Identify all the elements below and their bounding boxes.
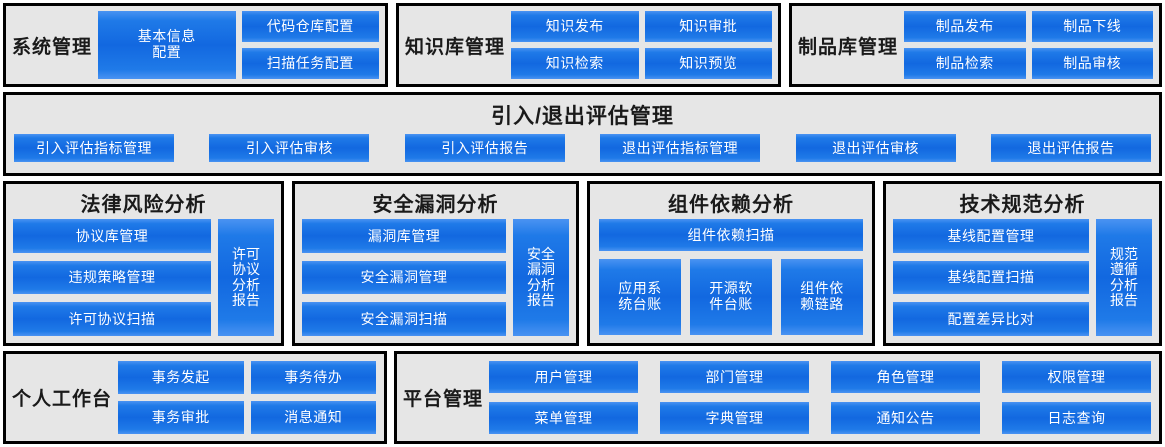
button-open-source-software-ledger[interactable]: 开源软 件台账 [690,259,772,335]
button-spec-report-line3: 分析 [1110,278,1138,293]
button-component-dependency-chain-line1: 组件依 [800,281,844,297]
button-license-analysis-report-line3: 分析 [232,278,260,293]
button-knowledge-preview[interactable]: 知识预览 [645,48,773,79]
button-license-analysis-report-line2: 协议 [232,262,260,277]
button-permission-management[interactable]: 权限管理 [1002,361,1151,393]
button-component-dependency-chain[interactable]: 组件依 赖链路 [781,259,863,335]
button-application-system-ledger-line1: 应用系 [618,281,662,297]
panel-title-entry-exit-evaluation-management: 引入/退出评估管理 [6,95,1159,134]
button-security-report-line3: 分析 [527,278,555,293]
button-role-management[interactable]: 角色管理 [831,361,980,393]
panel-title-artifact-repository-management: 制品库管理 [792,32,904,59]
button-user-management[interactable]: 用户管理 [489,361,638,393]
panel-title-component-dependency-analysis: 组件依赖分析 [590,184,872,219]
button-artifact-publish[interactable]: 制品发布 [904,11,1026,42]
panel-personal-workbench: 个人工作台 事务发起 事务待办 事务审批 消息通知 [3,351,387,444]
panel-platform-management: 平台管理 用户管理 部门管理 角色管理 权限管理 菜单管理 字典管理 通知公告 … [394,351,1162,444]
panel-component-dependency-analysis: 组件依赖分析 组件依赖扫描 应用系 统台账 开源软 件台账 组件依 赖链路 [587,181,875,346]
button-basic-info-config-line2: 配置 [152,45,181,61]
button-application-system-ledger-line2: 统台账 [618,297,662,313]
button-license-analysis-report-line4: 报告 [232,293,260,308]
button-license-library-management[interactable]: 协议库管理 [13,219,211,253]
button-knowledge-review[interactable]: 知识检索 [511,48,639,79]
button-task-todo[interactable]: 事务待办 [251,361,377,394]
button-notice-announcement[interactable]: 通知公告 [831,402,980,434]
button-knowledge-publish[interactable]: 知识发布 [511,11,639,42]
panel-system-management: 系统管理 基本信息 配置 代码仓库配置 扫描任务配置 [3,3,388,87]
panel-title-technical-specification-analysis: 技术规范分析 [886,184,1159,219]
button-security-vulnerability-management[interactable]: 安全漏洞管理 [302,261,506,295]
panel-title-legal-risk-analysis: 法律风险分析 [6,184,281,219]
button-scan-task-config[interactable]: 扫描任务配置 [242,48,380,79]
button-message-notification[interactable]: 消息通知 [251,401,377,434]
button-baseline-config-management[interactable]: 基线配置管理 [893,219,1089,253]
panel-title-knowledge-base-management: 知识库管理 [399,32,511,59]
button-vulnerability-library-management[interactable]: 漏洞库管理 [302,219,506,253]
button-dictionary-management[interactable]: 字典管理 [660,402,809,434]
button-license-agreement-scan[interactable]: 许可协议扫描 [13,302,211,336]
button-task-approval[interactable]: 事务审批 [118,401,243,434]
panel-security-vulnerability-analysis: 安全漏洞分析 漏洞库管理 安全漏洞管理 安全漏洞扫描 安全 漏洞 分析 报告 [292,181,579,346]
button-artifact-search[interactable]: 制品检索 [904,48,1026,79]
button-component-dependency-chain-line2: 赖链路 [800,297,844,313]
button-security-report-line4: 报告 [527,293,555,308]
button-open-source-software-ledger-line1: 开源软 [709,281,753,297]
panel-entry-exit-evaluation-management: 引入/退出评估管理 引入评估指标管理 引入评估审核 引入评估报告 退出评估指标管… [3,92,1162,176]
button-log-query[interactable]: 日志查询 [1002,402,1151,434]
button-specification-compliance-analysis-report[interactable]: 规范 遵循 分析 报告 [1096,219,1152,336]
button-department-management[interactable]: 部门管理 [660,361,809,393]
button-security-vulnerability-scan[interactable]: 安全漏洞扫描 [302,302,506,336]
button-exit-eval-review[interactable]: 退出评估审核 [796,134,956,162]
button-license-analysis-report-line1: 许可 [232,247,260,262]
button-exit-eval-report[interactable]: 退出评估报告 [991,134,1151,162]
button-basic-info-config-line1: 基本信息 [138,29,196,45]
button-application-system-ledger[interactable]: 应用系 统台账 [599,259,681,335]
button-artifact-offline[interactable]: 制品下线 [1032,11,1154,42]
panel-title-system-management: 系统管理 [6,32,98,59]
button-component-dependency-scan[interactable]: 组件依赖扫描 [599,219,863,251]
button-security-vulnerability-analysis-report[interactable]: 安全 漏洞 分析 报告 [513,219,569,336]
button-entry-eval-report[interactable]: 引入评估报告 [405,134,565,162]
button-entry-eval-index-management[interactable]: 引入评估指标管理 [14,134,174,162]
button-code-repo-config[interactable]: 代码仓库配置 [242,11,380,42]
panel-title-personal-workbench: 个人工作台 [6,384,118,411]
button-basic-info-config[interactable]: 基本信息 配置 [98,11,236,79]
button-security-report-line2: 漏洞 [527,262,555,277]
button-violation-policy-management[interactable]: 违规策略管理 [13,261,211,295]
button-config-difference-comparison[interactable]: 配置差异比对 [893,302,1089,336]
panel-artifact-repository-management: 制品库管理 制品发布 制品检索 制品下线 制品审核 [789,3,1162,87]
button-license-analysis-report[interactable]: 许可 协议 分析 报告 [218,219,274,336]
panel-title-security-vulnerability-analysis: 安全漏洞分析 [295,184,576,219]
panel-title-platform-management: 平台管理 [397,384,489,411]
button-security-report-line1: 安全 [527,247,555,262]
system-architecture-diagram: 系统管理 基本信息 配置 代码仓库配置 扫描任务配置 知识库管理 知识发布 知识… [0,0,1165,447]
button-artifact-audit[interactable]: 制品审核 [1032,48,1154,79]
button-spec-report-line2: 遵循 [1110,262,1138,277]
button-baseline-config-scan[interactable]: 基线配置扫描 [893,261,1089,295]
button-open-source-software-ledger-line2: 件台账 [709,297,753,313]
button-menu-management[interactable]: 菜单管理 [489,402,638,434]
button-spec-report-line4: 报告 [1110,293,1138,308]
panel-legal-risk-analysis: 法律风险分析 协议库管理 违规策略管理 许可协议扫描 许可 协议 分析 报告 [3,181,284,346]
button-knowledge-approval[interactable]: 知识审批 [645,11,773,42]
panel-knowledge-base-management: 知识库管理 知识发布 知识检索 知识审批 知识预览 [396,3,781,87]
button-exit-eval-index-management[interactable]: 退出评估指标管理 [600,134,760,162]
button-entry-eval-review[interactable]: 引入评估审核 [209,134,369,162]
button-spec-report-line1: 规范 [1110,247,1138,262]
panel-technical-specification-analysis: 技术规范分析 基线配置管理 基线配置扫描 配置差异比对 规范 遵循 分析 报告 [883,181,1162,346]
button-task-initiate[interactable]: 事务发起 [118,361,243,394]
